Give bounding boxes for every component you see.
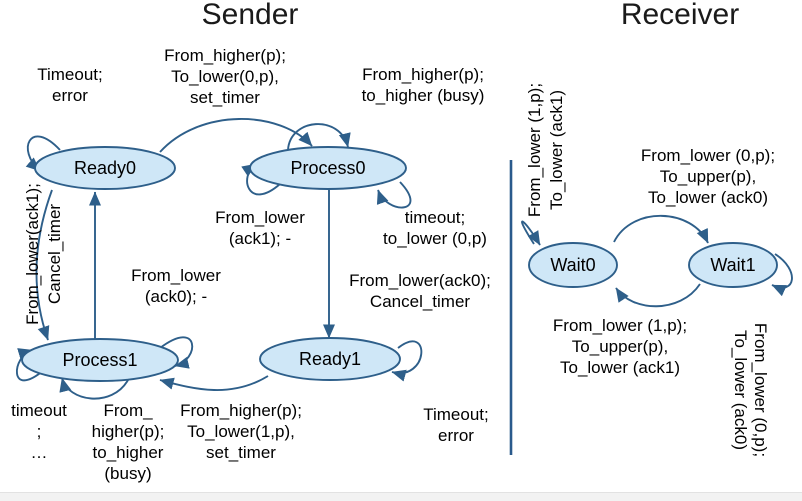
- edge-wait1-to-wait0: [616, 284, 700, 306]
- label-process1-to-ready0: From_lower (ack0); -: [106, 265, 246, 307]
- label-ready0-self: Timeout; error: [6, 64, 134, 106]
- sender-title: Sender: [155, 0, 345, 32]
- label-wait1-to-wait0: From_lower (1,p); To_upper(p), To_lower …: [520, 315, 720, 378]
- label-process0-self-right: timeout; to_lower (0,p): [360, 207, 510, 249]
- label-wait1-self-line2: To_lower (ack0): [730, 305, 751, 475]
- state-wait1[interactable]: [689, 243, 777, 287]
- label-wait0-to-wait1: From_lower (0,p); To_upper(p), To_lower …: [608, 145, 802, 208]
- state-process1[interactable]: [22, 339, 178, 381]
- state-ready1[interactable]: [260, 338, 400, 380]
- label-wait0-self-line1: From_lower (1,p);: [524, 65, 545, 235]
- bottom-band: [0, 492, 802, 501]
- label-process1-self-left: timeout ; …: [0, 400, 80, 463]
- label-process0-self-left: From_lower (ack1); -: [190, 207, 330, 249]
- edge-wait0-to-wait1: [614, 216, 708, 243]
- label-ready1-self: Timeout; error: [396, 404, 516, 446]
- label-wait1-self-line1: From_lower (0,p);: [750, 305, 771, 475]
- label-process0-self-top: From_higher(p); to_higher (busy): [328, 64, 518, 106]
- label-ready0-to-process1-line1: From_lower(ack1);: [22, 174, 43, 334]
- label-ready1-to-process1: From_higher(p); To_lower(1,p), set_timer: [146, 400, 336, 463]
- edge-process0-self-right: [378, 182, 410, 208]
- receiver-title: Receiver: [580, 0, 780, 32]
- label-ready0-to-process0: From_higher(p); To_lower(0,p), set_timer: [130, 45, 320, 108]
- label-ready0-to-process1-line2: Cancel_timer: [44, 174, 65, 334]
- edge-process0-self-top: [288, 124, 348, 150]
- label-wait0-self-line2: To_lower (ack1): [546, 65, 567, 235]
- state-wait0[interactable]: [529, 243, 617, 287]
- edge-ready1-to-process1: [160, 376, 268, 390]
- state-process0[interactable]: [250, 147, 406, 189]
- diagram-canvas: Sender Receiver Ready0 Process0 Process1…: [0, 0, 802, 501]
- label-process0-to-ready1: From_lower(ack0); Cancel_timer: [330, 270, 510, 312]
